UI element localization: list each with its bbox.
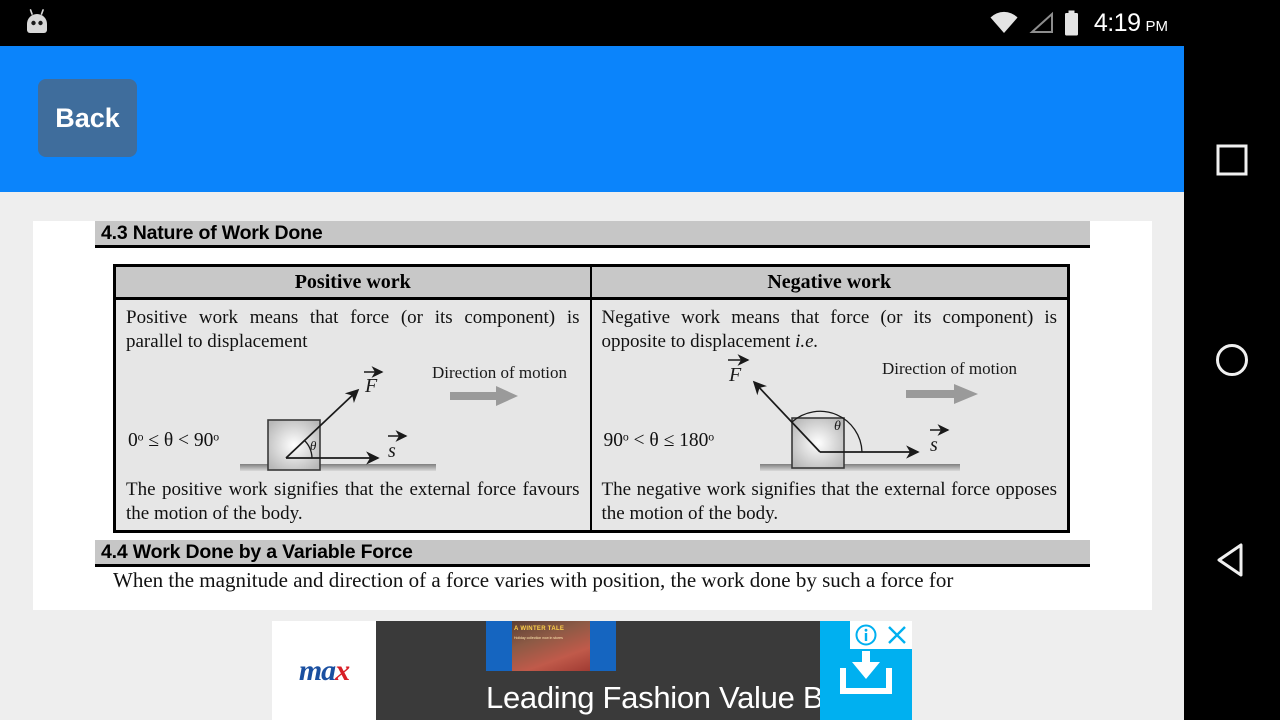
back-button[interactable]: Back (38, 79, 137, 157)
svg-text:s: s (388, 440, 396, 462)
negative-work-intro-main: Negative work means that force (or its c… (602, 307, 1058, 352)
svg-text:Direction of motion: Direction of motion (432, 363, 568, 382)
ad-logo-a: a (321, 654, 335, 687)
clipped-paragraph: When the magnitude and direction of a fo… (113, 571, 1088, 593)
svg-text:F: F (728, 364, 742, 386)
ad-logo-m: m (299, 654, 321, 687)
section-heading-4-3: 4.3 Nature of Work Done (95, 221, 1090, 248)
android-robot-icon (22, 8, 52, 38)
section-heading-4-4: 4.4 Work Done by a Variable Force (95, 540, 1090, 567)
screen-root: 4:19 PM Back 4.3 Nature of Work Done Pos… (0, 0, 1280, 720)
ad-thumbnail-title: A WINTER TALE (514, 626, 588, 632)
ad-info-button[interactable] (850, 621, 881, 649)
negative-work-intro: Negative work means that force (or its c… (602, 306, 1058, 354)
ad-install-button[interactable] (820, 621, 912, 720)
ad-badge-group (850, 621, 912, 649)
section-heading-4-4-label: 4.4 Work Done by a Variable Force (95, 541, 413, 564)
section-heading-4-3-label: 4.3 Nature of Work Done (95, 222, 323, 245)
negative-work-angle-range: 90ᵒ < θ ≤ 180ᵒ (604, 430, 715, 452)
ad-thumbnail: A WINTER TALE Holiday collection now in … (486, 621, 616, 671)
table-cell-negative-work: Negative work means that force (or its c… (592, 300, 1068, 530)
home-circle-icon (1214, 342, 1250, 378)
positive-work-conclusion: The positive work signifies that the ext… (126, 478, 580, 526)
negative-work-conclusion: The negative work signifies that the ext… (602, 478, 1058, 526)
svg-text:θ: θ (310, 438, 317, 453)
ad-close-button[interactable] (881, 621, 912, 649)
ad-content[interactable]: A WINTER TALE Holiday collection now in … (376, 621, 820, 720)
column-header-negative-work: Negative work (592, 267, 1068, 297)
clock-time: 4:19 (1094, 9, 1141, 38)
download-icon (837, 649, 895, 695)
back-triangle-icon (1214, 541, 1250, 579)
svg-text:s: s (930, 434, 938, 456)
table-body-row: Positive work means that force (or its c… (116, 300, 1067, 530)
ad-banner[interactable]: max A WINTER TALE Holiday collection now… (272, 621, 912, 720)
positive-work-angle-range: 0ᵒ ≤ θ < 90ᵒ (128, 430, 219, 452)
table-cell-positive-work: Positive work means that force (or its c… (116, 300, 592, 530)
android-navigation-bar (1184, 0, 1280, 720)
recents-square-icon (1215, 143, 1249, 177)
ad-logo-x: x (335, 654, 349, 687)
clock-ampm: PM (1146, 18, 1169, 35)
home-button[interactable] (1208, 336, 1256, 384)
status-clock: 4:19 PM (1094, 9, 1168, 38)
back-button-nav[interactable] (1208, 536, 1256, 584)
negative-work-intro-italic: i.e. (795, 331, 818, 352)
battery-full-icon (1064, 10, 1079, 36)
recents-button[interactable] (1208, 136, 1256, 184)
column-header-positive-work: Positive work (116, 267, 592, 297)
ad-advertiser-logo: max (272, 621, 376, 720)
svg-text:Direction of motion: Direction of motion (882, 359, 1018, 378)
cellular-signal-icon (1028, 11, 1055, 35)
info-icon (854, 623, 878, 647)
document-page: 4.3 Nature of Work Done Positive work Ne… (33, 221, 1152, 610)
positive-work-intro: Positive work means that force (or its c… (126, 306, 580, 354)
app-header-bar: Back (0, 46, 1184, 192)
svg-text:F: F (364, 375, 378, 397)
svg-text:θ: θ (834, 419, 841, 434)
close-icon (885, 623, 909, 647)
positive-work-diagram: θ F s Direction of motion (236, 358, 576, 480)
device-viewport: 4:19 PM Back 4.3 Nature of Work Done Pos… (0, 0, 1184, 720)
clipped-paragraph-text: When the magnitude and direction of a fo… (113, 571, 1088, 592)
status-icons: 4:19 PM (989, 0, 1168, 46)
table-header-row: Positive work Negative work (116, 267, 1067, 300)
status-bar: 4:19 PM (0, 0, 1184, 46)
ad-thumbnail-subtitle: Holiday collection now in stores (514, 636, 574, 641)
wifi-icon (989, 11, 1019, 35)
work-comparison-table: Positive work Negative work Positive wor… (113, 264, 1070, 533)
negative-work-diagram: θ F s Direction of motion (710, 352, 1060, 482)
